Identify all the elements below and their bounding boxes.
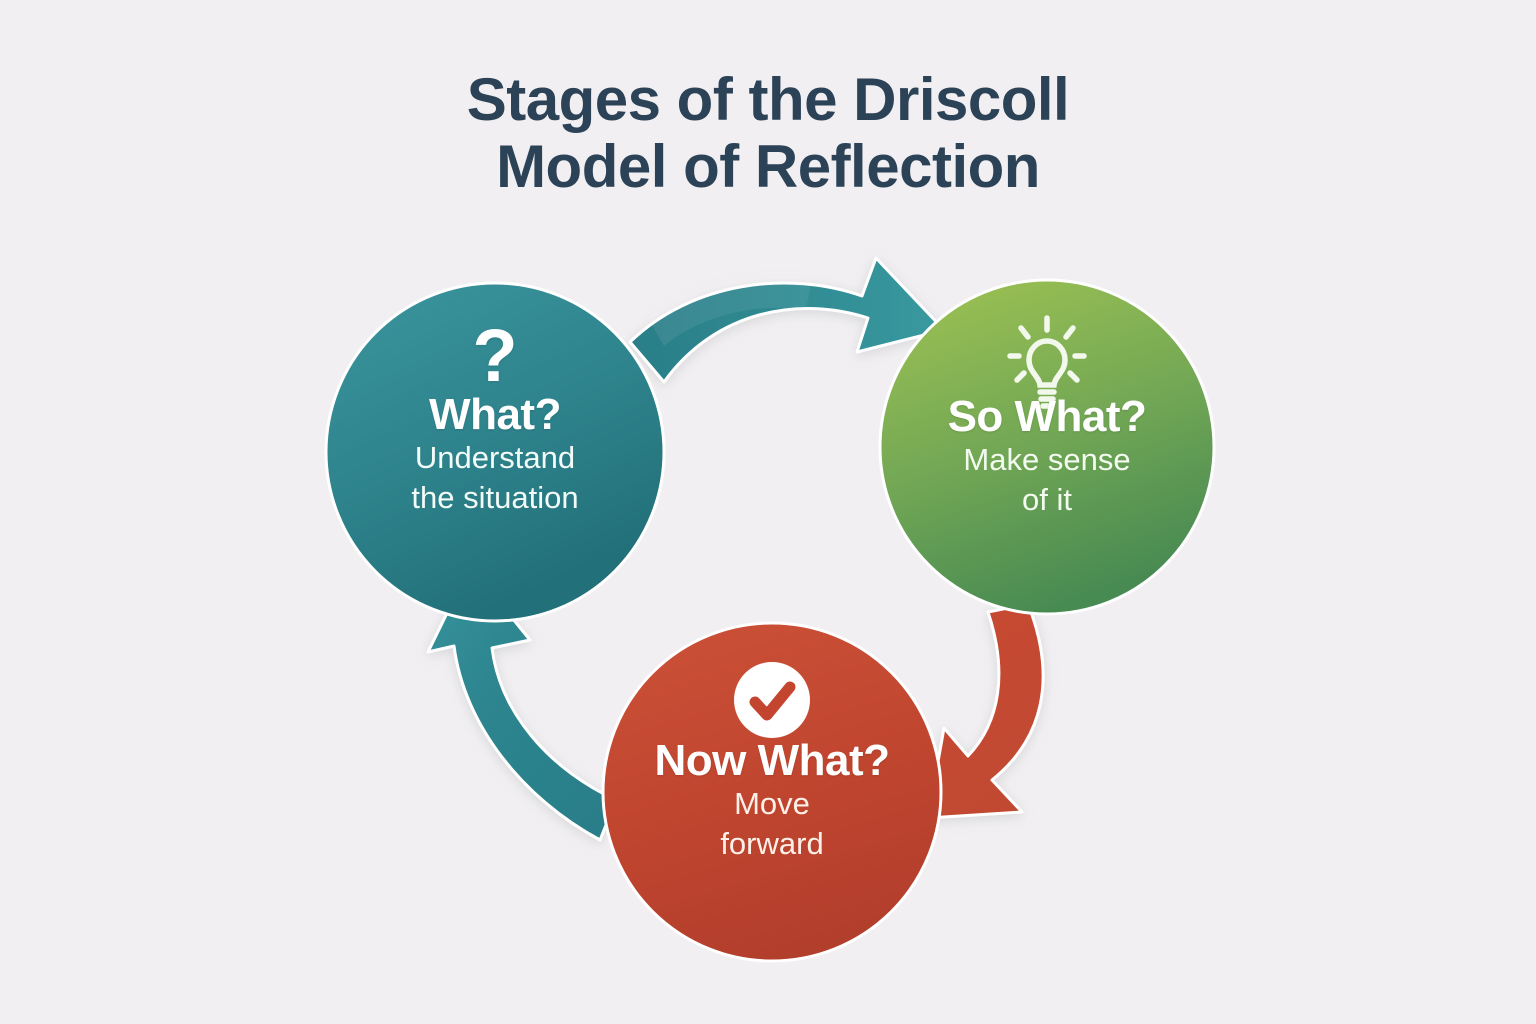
question-mark-glyph: ?: [455, 316, 535, 396]
check-circle-icon: [734, 662, 810, 738]
arrow-what-to-so-what: [628, 258, 944, 382]
arrow-so-what-to-now-what: [928, 604, 1043, 818]
question-mark-icon: ?: [455, 316, 535, 396]
diagram-canvas: Stages of the Driscoll Model of Reflecti…: [0, 0, 1536, 1024]
cycle-diagram: [0, 0, 1536, 1024]
